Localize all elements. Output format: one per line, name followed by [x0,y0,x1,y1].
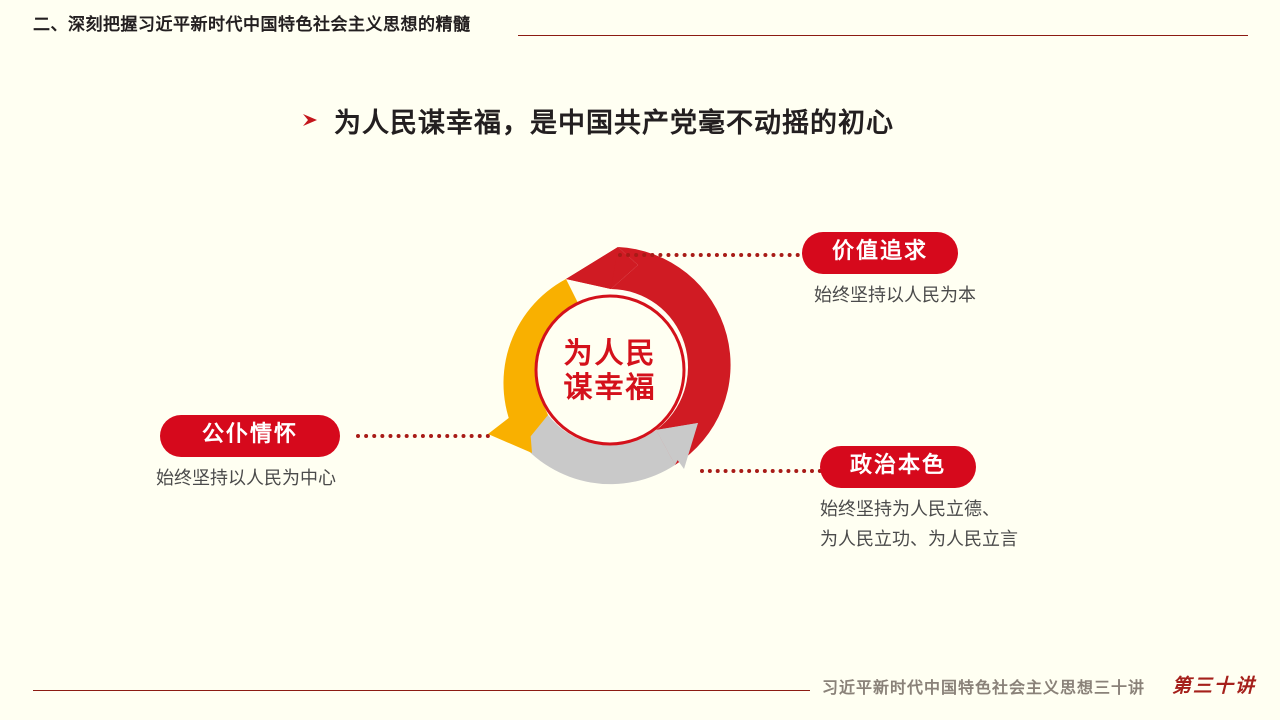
callout-servant-spirit-label: 公仆情怀 [160,415,340,457]
connector-line-political-character [700,469,822,473]
callout-value-pursuit-description-line-1: 始终坚持以人民为本 [814,281,976,311]
footer-lecture-badge: 第三十讲 [1172,673,1256,699]
callout-political-character-description-line-1: 始终坚持为人民立德、 [820,495,1018,525]
connector-line-servant-spirit [356,434,490,438]
footer-series-title: 习近平新时代中国特色社会主义思想三十讲 [822,676,1145,700]
callout-servant-spirit: 公仆情怀 始终坚持以人民为中心 [160,415,340,494]
callout-political-character-description-line-2: 为人民立功、为人民立言 [820,525,1018,555]
header-divider-line [518,35,1248,36]
page-title: 为人民谋幸福，是中国共产党毫不动摇的初心 [300,100,894,140]
connector-line-value-pursuit [618,253,808,257]
center-circle [536,296,684,444]
slide-canvas: 二、深刻把握习近平新时代中国特色社会主义思想的精髓 为人民谋幸福，是中国共产党毫… [0,0,1280,720]
callout-political-character-label: 政治本色 [820,446,976,488]
footer-divider-line [33,690,810,691]
callout-value-pursuit: 价值追求 始终坚持以人民为本 [802,232,976,311]
arrow-right-bullet-icon [300,110,320,130]
callout-value-pursuit-label: 价值追求 [802,232,958,274]
page-title-text: 为人民谋幸福，是中国共产党毫不动摇的初心 [334,101,894,140]
callout-servant-spirit-description-line-1: 始终坚持以人民为中心 [156,464,340,494]
slide-header: 二、深刻把握习近平新时代中国特色社会主义思想的精髓 [0,10,1280,44]
section-title: 二、深刻把握习近平新时代中国特色社会主义思想的精髓 [33,10,471,40]
callout-political-character: 政治本色 始终坚持为人民立德、 为人民立功、为人民立言 [820,446,1018,555]
